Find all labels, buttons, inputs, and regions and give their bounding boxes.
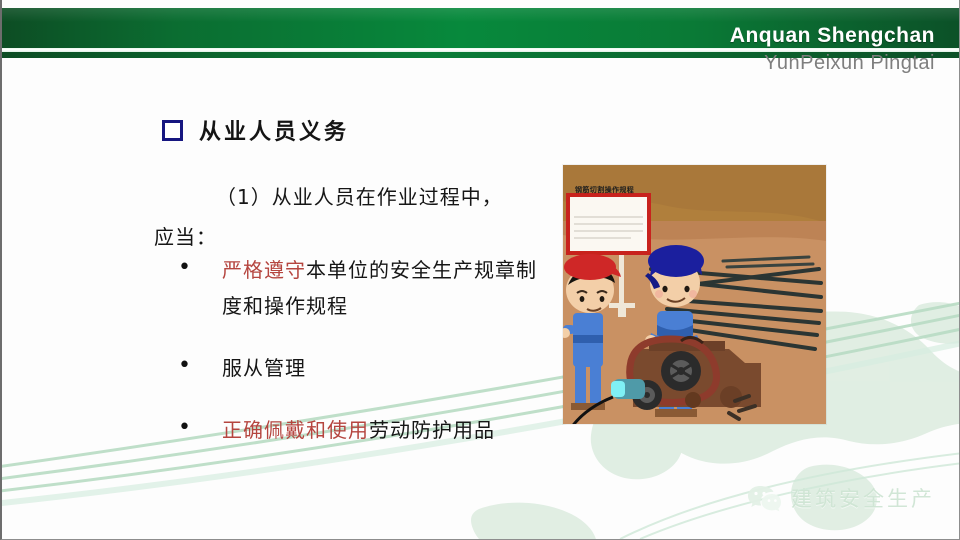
- list-item: 服从管理: [170, 350, 550, 386]
- header-sheen: [2, 8, 959, 22]
- watermark: 建筑安全生产: [747, 483, 935, 513]
- list-item-text: 劳动防护用品: [369, 418, 495, 442]
- illustration-artwork: [563, 165, 826, 424]
- square-bullet-icon: [162, 120, 183, 141]
- paragraph-line-1: （1）从业人员在作业过程中，: [216, 185, 503, 209]
- page-title: 从业人员义务: [162, 114, 349, 146]
- slide-canvas: Anquan Shengchan YunPeixun Pingtai 从业人员义…: [0, 0, 960, 540]
- paragraph-line-2: 应当：: [154, 225, 217, 249]
- duty-list: 严格遵守本单位的安全生产规章制度和操作规程 服从管理 正确佩戴和使用劳动防护用品: [170, 252, 550, 474]
- page-title-label: 从业人员义务: [199, 114, 349, 146]
- brand-title-pinyin: Anquan Shengchan: [730, 24, 935, 48]
- brand-subtitle-pinyin: YunPeixun Pingtai: [764, 52, 935, 75]
- list-item-highlight: 正确佩戴和使用: [222, 418, 369, 442]
- watermark-label: 建筑安全生产: [791, 483, 935, 513]
- list-item-text: 服从管理: [222, 356, 306, 380]
- list-item-highlight: 严格遵守: [222, 258, 306, 282]
- list-item: 正确佩戴和使用劳动防护用品: [170, 412, 550, 448]
- sign-text: 钢筋切割操作规程: [575, 185, 634, 195]
- list-item: 严格遵守本单位的安全生产规章制度和操作规程: [170, 252, 550, 324]
- wechat-icon: [747, 484, 781, 512]
- intro-paragraph: （1）从业人员在作业过程中， 应当：: [154, 177, 544, 257]
- rebar-cutting-safety-illustration: 钢筋切割操作规程: [563, 165, 826, 424]
